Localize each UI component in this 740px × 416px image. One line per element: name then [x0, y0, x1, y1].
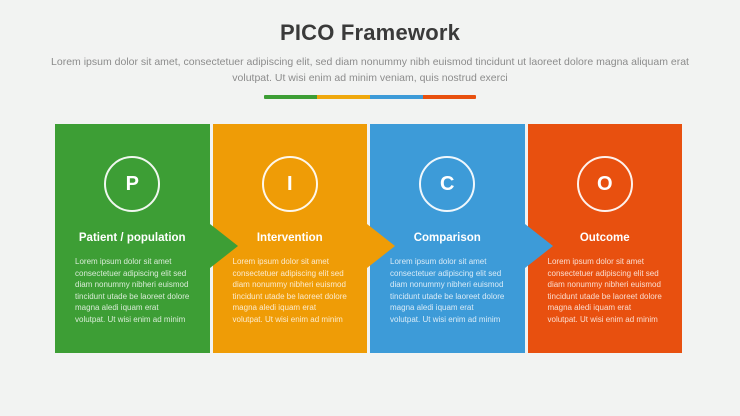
panel-letter: O	[597, 174, 613, 194]
panel-letter-circle-icon: I	[262, 156, 318, 212]
divider-segment-2	[317, 95, 370, 99]
panel-arrow-right-icon	[210, 224, 238, 268]
panel-letter: P	[126, 174, 139, 194]
pico-panel-p[interactable]: PPatient / populationLorem ipsum dolor s…	[55, 124, 210, 353]
slide-canvas: PICO Framework Lorem ipsum dolor sit ame…	[0, 0, 740, 416]
panel-arrow-right-icon	[367, 224, 395, 268]
panel-letter: I	[287, 174, 293, 194]
panel-body-text: Lorem ipsum dolor sit amet consectetuer …	[75, 256, 191, 325]
color-divider	[264, 95, 476, 99]
panel-body-text: Lorem ipsum dolor sit amet consectetuer …	[390, 256, 506, 325]
panel-body-text: Lorem ipsum dolor sit amet consectetuer …	[548, 256, 664, 325]
panel-letter-circle-icon: C	[419, 156, 475, 212]
panel-title: Patient / population	[55, 231, 210, 245]
page-title: PICO Framework	[0, 18, 740, 48]
pico-panel-list: PPatient / populationLorem ipsum dolor s…	[55, 124, 685, 353]
page-subtitle: Lorem ipsum dolor sit amet, consectetuer…	[50, 54, 690, 86]
divider-segment-1	[264, 95, 317, 99]
header: PICO Framework Lorem ipsum dolor sit ame…	[0, 18, 740, 99]
panel-letter: C	[440, 174, 454, 194]
divider-segment-4	[423, 95, 476, 99]
panel-arrow-right-icon	[525, 224, 553, 268]
panel-letter-circle-icon: O	[577, 156, 633, 212]
divider-segment-3	[370, 95, 423, 99]
panel-body-text: Lorem ipsum dolor sit amet consectetuer …	[233, 256, 349, 325]
panel-letter-circle-icon: P	[104, 156, 160, 212]
